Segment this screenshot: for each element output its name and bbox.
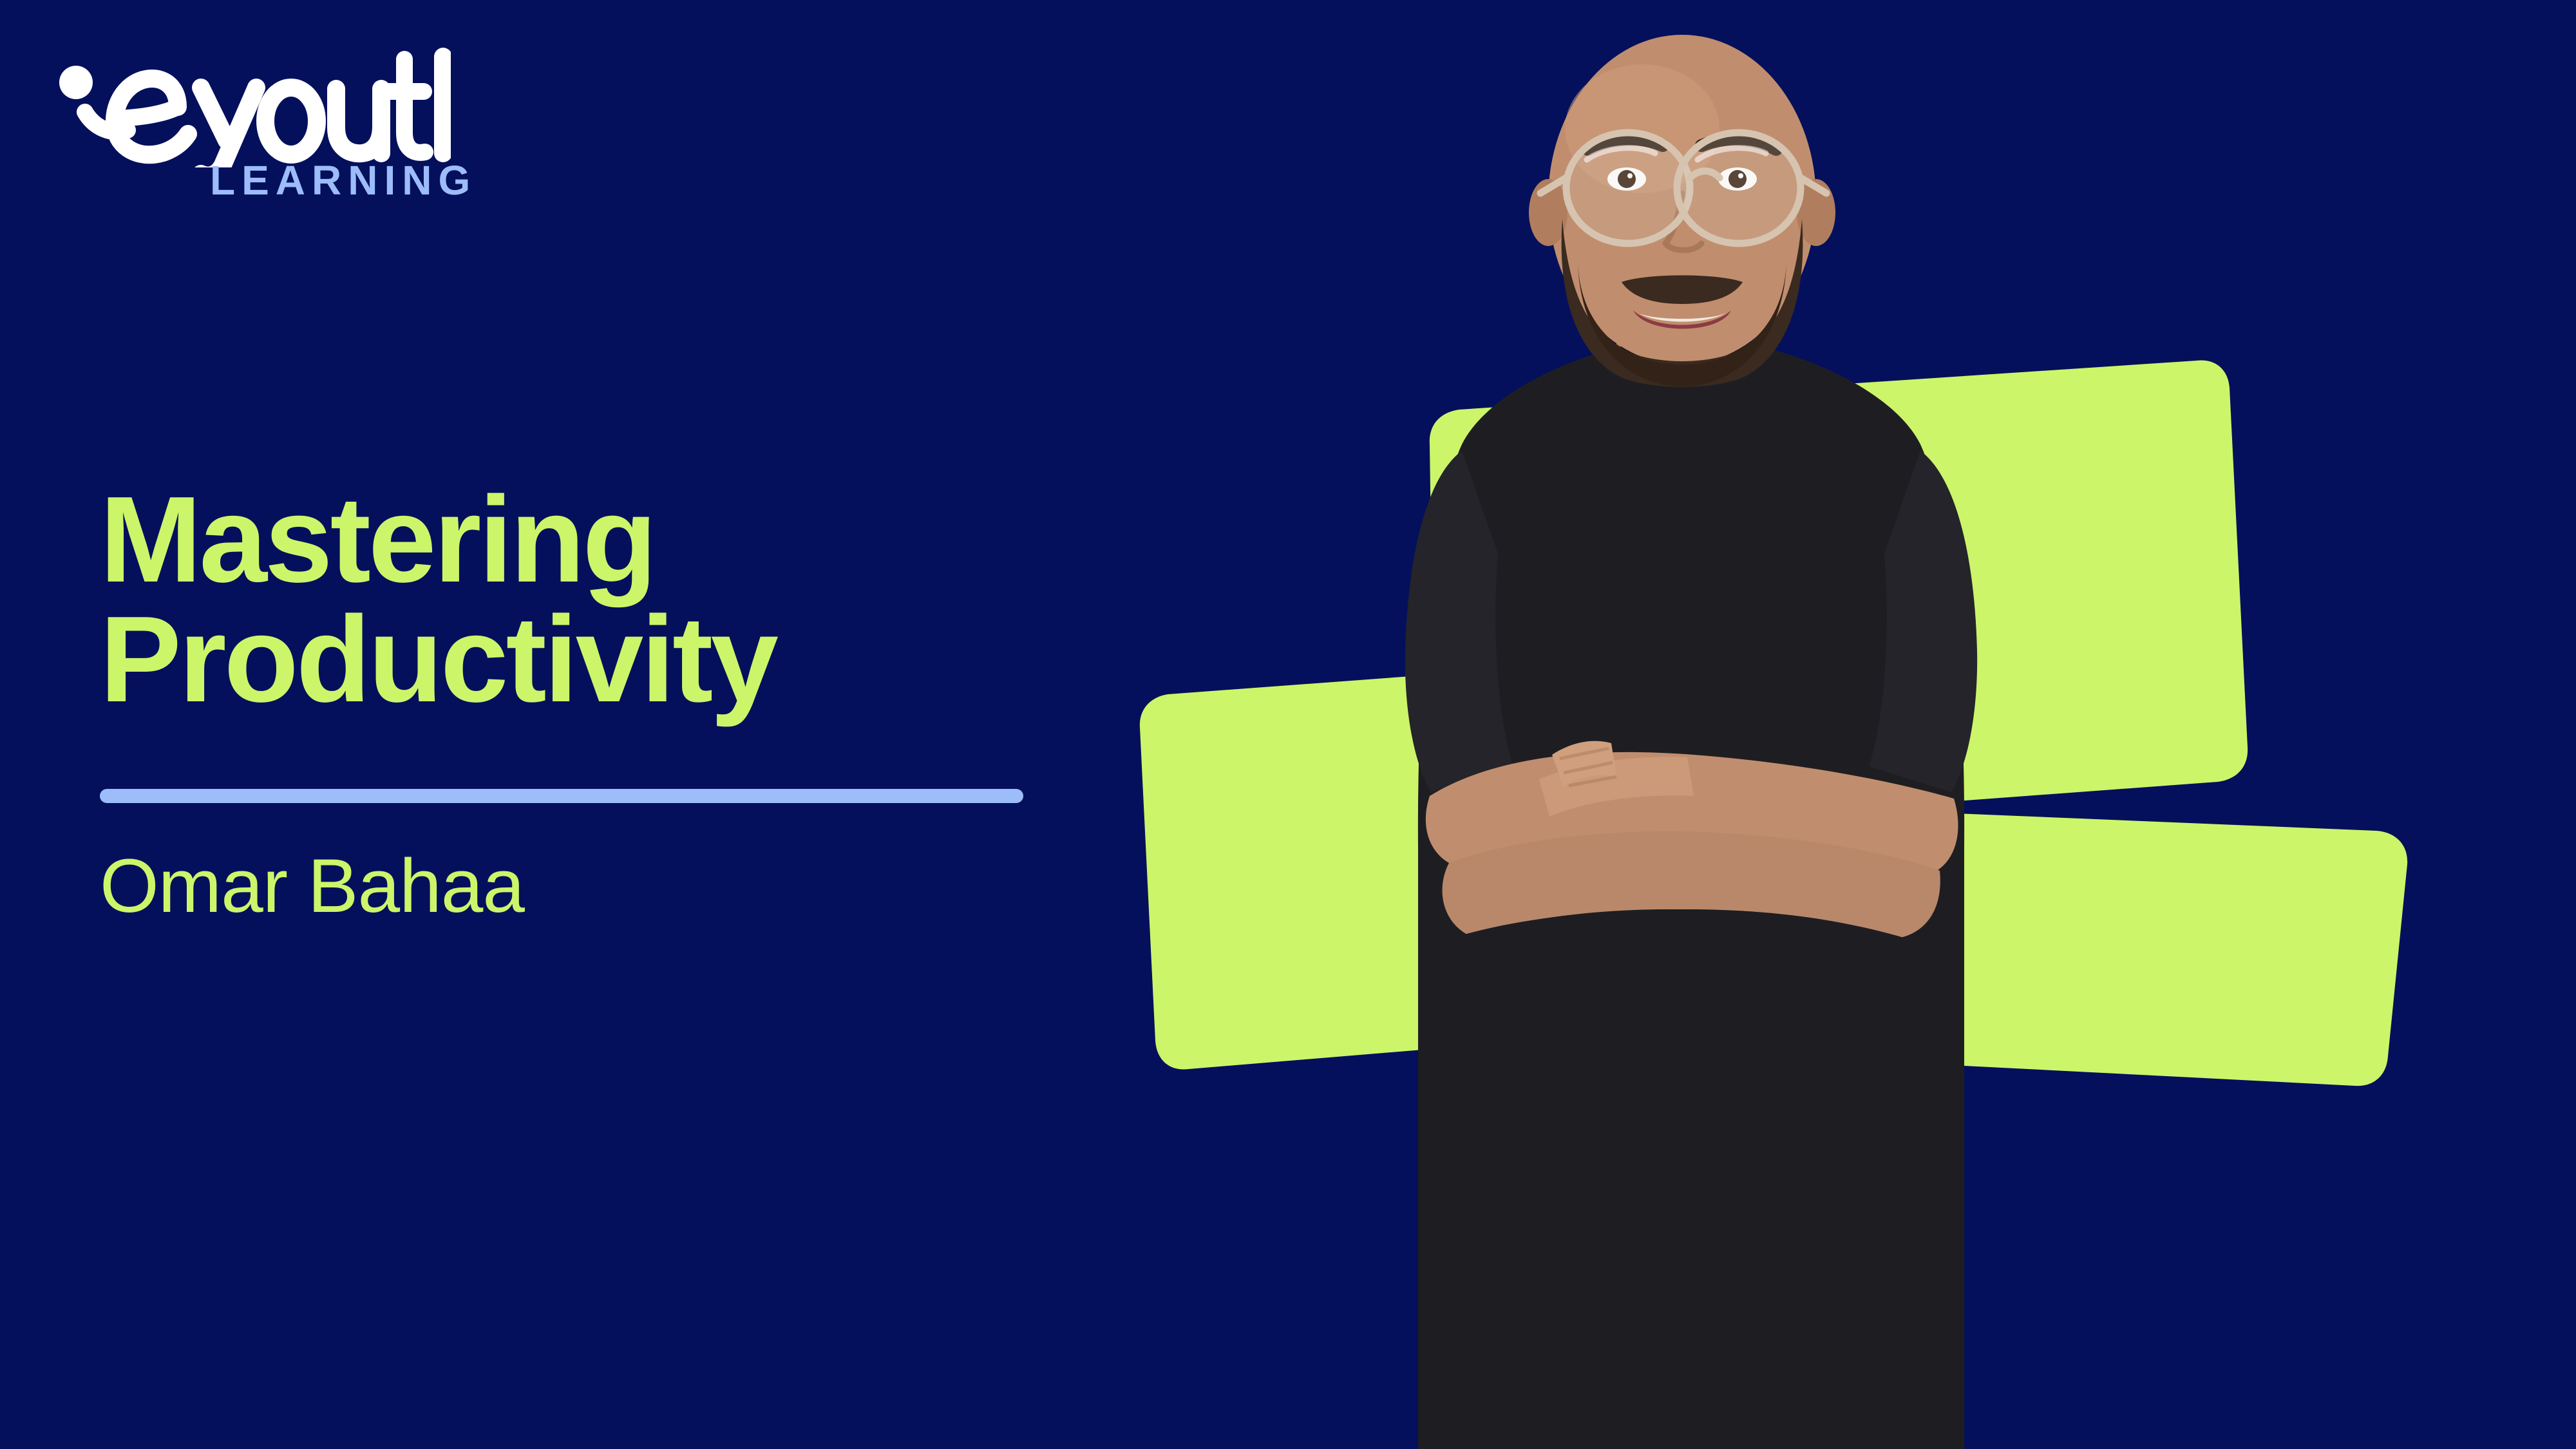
title-divider xyxy=(100,789,1023,803)
course-title: Mastering Productivity xyxy=(100,480,1195,719)
brand-logo: R LEARNING xyxy=(52,45,451,206)
title-block: Mastering Productivity Omar Bahaa xyxy=(100,480,1195,924)
instructor-photo xyxy=(1405,35,1977,1449)
logo-subtitle: LEARNING xyxy=(210,160,477,201)
instructor-artwork xyxy=(1127,0,2576,1449)
eyouth-wordmark-icon: R xyxy=(52,45,451,167)
presenter-name: Omar Bahaa xyxy=(100,848,1195,924)
title-slide: R LEARNING Mastering Productivity Omar B… xyxy=(0,0,2576,1449)
logo-dot-icon xyxy=(59,66,93,99)
